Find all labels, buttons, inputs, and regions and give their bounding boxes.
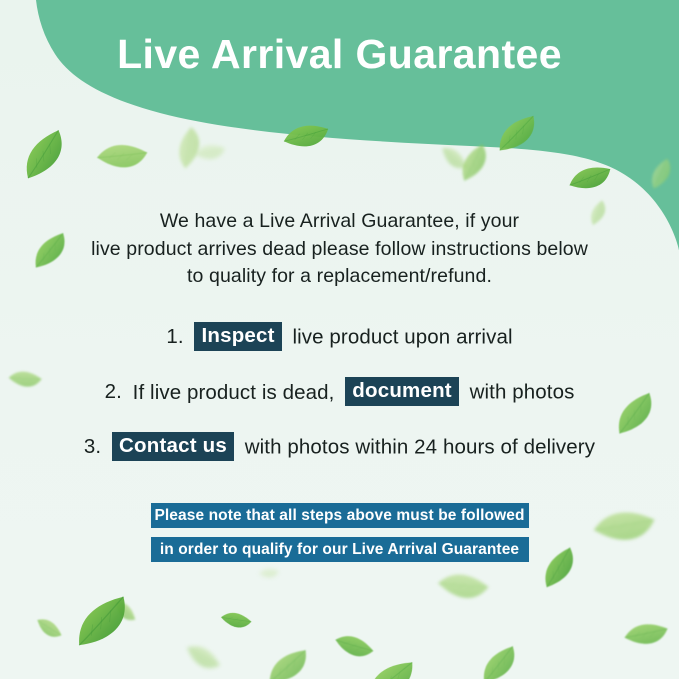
- footer-note-line-1: Please note that all steps above must be…: [151, 503, 529, 528]
- leaf-icon: [491, 113, 542, 156]
- leaf-icon: [427, 136, 480, 179]
- leaf-icon: [568, 160, 612, 195]
- intro-paragraph: We have a Live Arrival Guarantee, if you…: [60, 208, 620, 291]
- leaf-icon: [622, 613, 670, 656]
- leaf-icon: [67, 592, 138, 652]
- leaf-icon: [282, 115, 330, 156]
- leaf-icon: [448, 140, 499, 186]
- leaf-icon: [263, 646, 313, 679]
- step-number-3: 3.: [84, 435, 101, 458]
- step-item-1: 1. Inspect live product upon arrival: [0, 322, 679, 352]
- leaf-icon: [193, 137, 226, 167]
- leaf-icon: [533, 544, 585, 593]
- leaf-icon: [165, 124, 212, 172]
- step-highlight-2: document: [345, 377, 459, 406]
- step-pretext-2: If live product is dead,: [133, 381, 335, 404]
- step-posttext-3: with photos within 24 hours of delivery: [245, 436, 595, 459]
- instruction-steps: 1. Inspect live product upon arrival 2. …: [0, 322, 679, 487]
- leaf-icon: [331, 623, 376, 668]
- page-title: Live Arrival Guarantee: [0, 31, 679, 77]
- live-arrival-guarantee-card: Live Arrival Guarantee We have a Live Ar…: [0, 0, 679, 679]
- leaf-icon: [256, 558, 282, 589]
- footer-note: Please note that all steps above must be…: [151, 503, 529, 562]
- step-highlight-3: Contact us: [112, 432, 234, 461]
- leaf-icon: [642, 155, 679, 192]
- leaf-icon: [94, 131, 150, 181]
- step-number-2: 2.: [105, 380, 122, 403]
- leaf-icon: [10, 122, 78, 187]
- leaf-icon: [434, 558, 492, 614]
- leaf-icon: [591, 497, 658, 556]
- footer-note-line-2: in order to qualify for our Live Arrival…: [151, 537, 529, 562]
- leaf-icon: [34, 612, 64, 644]
- leaf-icon: [363, 657, 418, 679]
- step-item-2: 2. If live product is dead, document wit…: [0, 377, 679, 407]
- step-item-3: 3. Contact us with photos within 24 hour…: [0, 432, 679, 462]
- leaf-icon: [169, 627, 236, 679]
- step-highlight-1: Inspect: [194, 322, 281, 351]
- intro-line-1: We have a Live Arrival Guarantee, if you…: [60, 208, 620, 236]
- intro-line-2: live product arrives dead please follow …: [60, 236, 620, 264]
- leaf-icon: [210, 592, 262, 647]
- leaf-icon: [473, 641, 525, 679]
- step-number-1: 1.: [166, 325, 183, 348]
- leaf-icon: [103, 594, 147, 629]
- intro-line-3: to quality for a replacement/refund.: [60, 263, 620, 291]
- step-posttext-1: live product upon arrival: [292, 326, 512, 349]
- step-posttext-2: with photos: [470, 381, 575, 404]
